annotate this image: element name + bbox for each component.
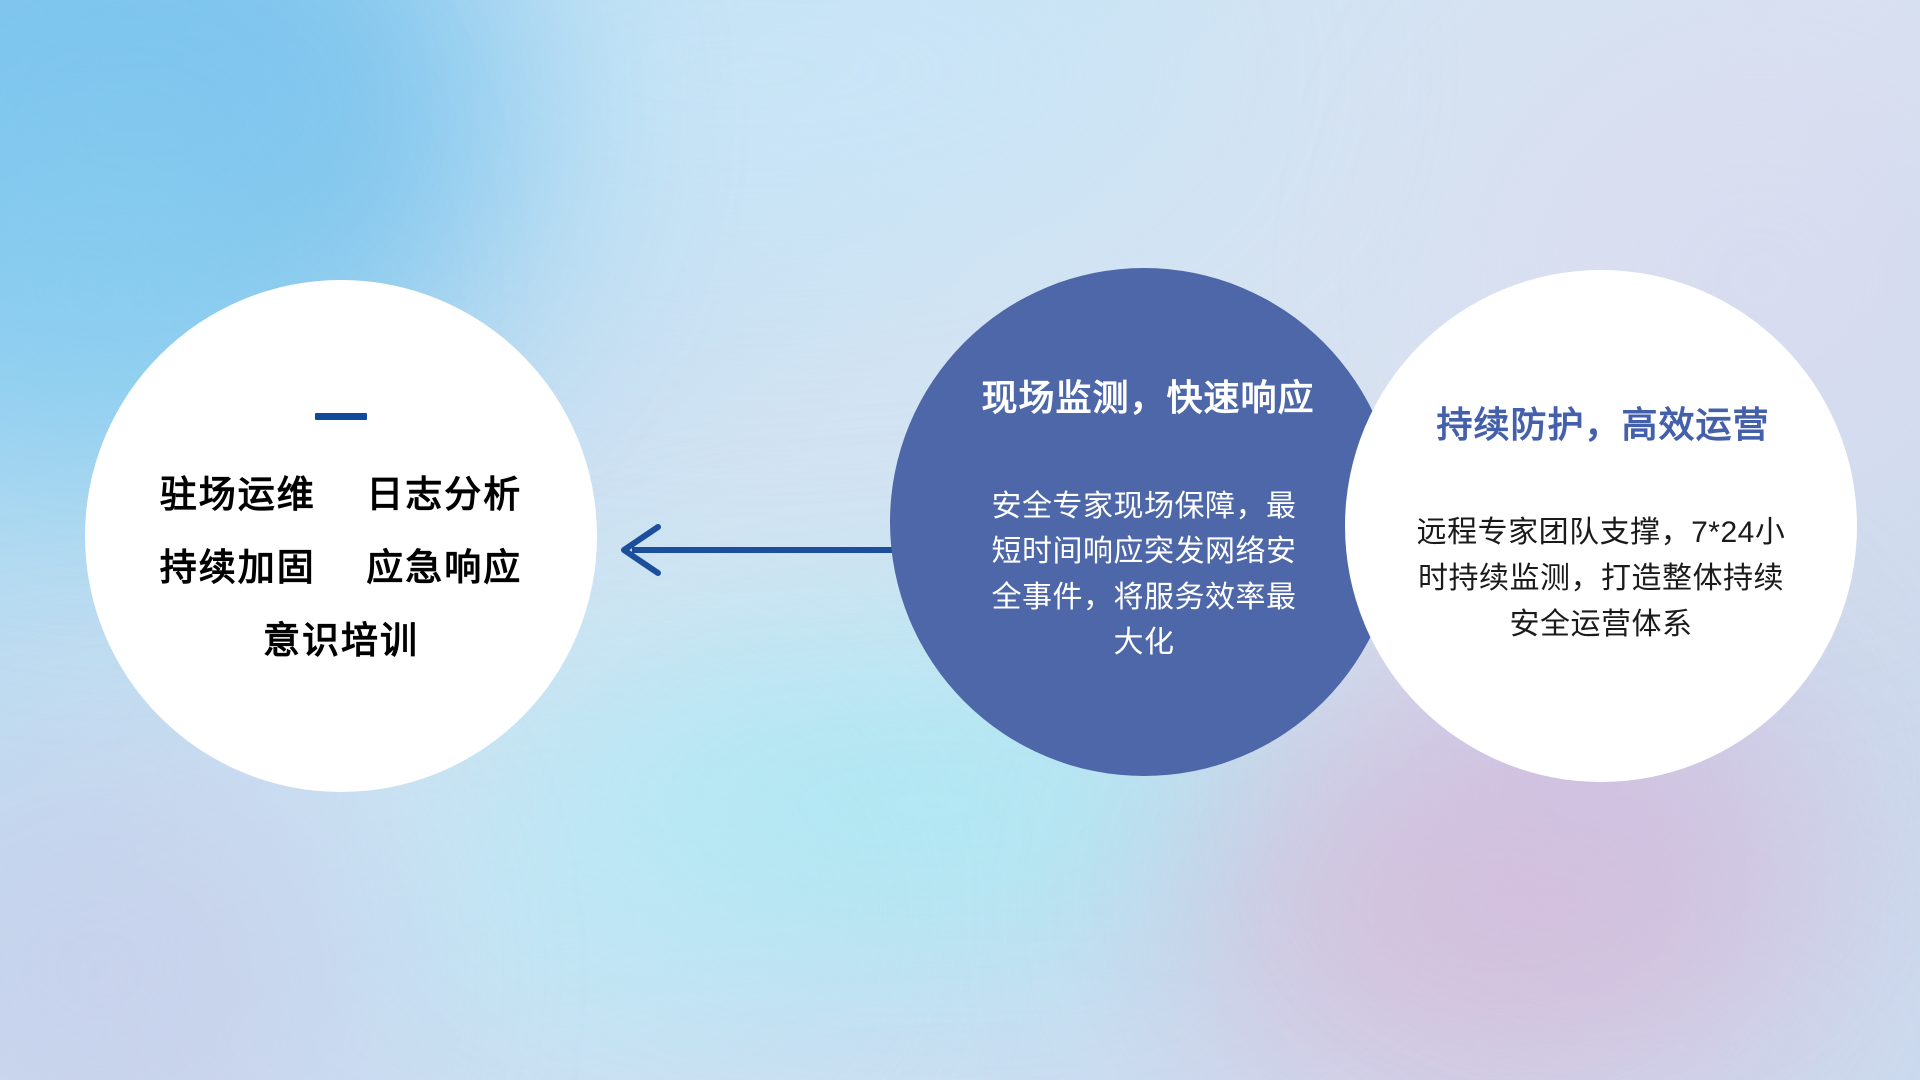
keyword-zhuchang-yunwei: 驻场运维 — [160, 474, 316, 515]
capability-circle-keywords[interactable]: 驻场运维 日志分析 持续加固 应急响应 意识培训 — [85, 280, 597, 792]
slide-canvas: 驻场运维 日志分析 持续加固 应急响应 意识培训 现场监测，快速响应 安全专家现… — [0, 0, 1920, 1080]
keyword-row-2: 持续加固 应急响应 — [160, 549, 523, 586]
onsite-description: 安全专家现场保障，最短时间响应突发网络安全事件，将服务效率最大化 — [979, 484, 1309, 666]
accent-dash-divider — [315, 413, 367, 420]
capability-circle-remote[interactable]: 持续防护，高效运营 远程专家团队支撑，7*24小时持续监测，打造整体持续安全运营… — [1345, 270, 1857, 782]
keyword-row-1: 驻场运维 日志分析 — [160, 476, 523, 513]
keyword-yingji-xiangying: 应急响应 — [366, 547, 522, 588]
background-blob-lavender — [0, 740, 360, 1080]
remote-title: 持续防护，高效运营 — [1436, 405, 1769, 445]
keyword-yishi-peixun: 意识培训 — [263, 620, 419, 661]
onsite-title: 现场监测，快速响应 — [981, 378, 1314, 418]
arrow-left-icon — [600, 515, 900, 585]
keyword-row-3: 意识培训 — [263, 622, 419, 659]
remote-description: 远程专家团队支撑，7*24小时持续监测，打造整体持续安全运营体系 — [1408, 510, 1794, 647]
keyword-chixu-jiagu: 持续加固 — [160, 547, 316, 588]
keyword-rizhi-fenxi: 日志分析 — [366, 474, 522, 515]
background-blob-cyan-2 — [300, 760, 820, 1060]
capability-circle-onsite[interactable]: 现场监测，快速响应 安全专家现场保障，最短时间响应突发网络安全事件，将服务效率最… — [890, 268, 1398, 776]
